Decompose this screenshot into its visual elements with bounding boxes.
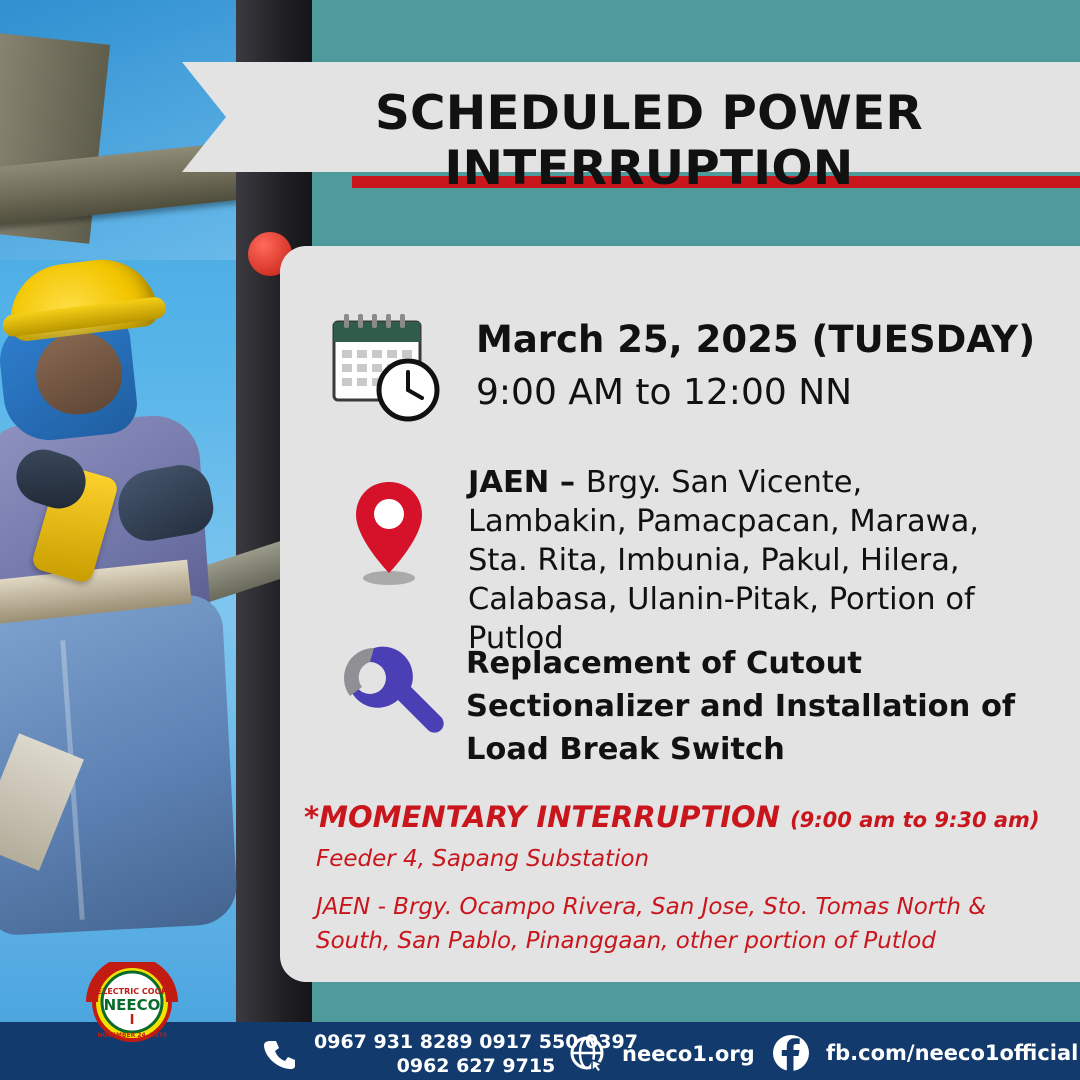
footer-website-label: neeco1.org xyxy=(622,1042,755,1066)
map-pin-icon xyxy=(348,478,430,588)
phone-icon xyxy=(262,1037,296,1071)
footer-facebook-label: fb.com/neeco1official xyxy=(826,1041,1078,1065)
momentary-heading: *MOMENTARY INTERRUPTION (9:00 am to 9:30… xyxy=(304,800,1040,834)
poster: SCHEDULED POWER INTERRUPTION xyxy=(0,0,1080,1080)
wrench-icon xyxy=(336,640,446,740)
clock-icon xyxy=(379,361,437,419)
hard-hat xyxy=(4,253,160,343)
interruption-time: 9:00 AM to 12:00 NN xyxy=(476,372,852,413)
work-description: Replacement of Cutout Sectionalizer and … xyxy=(466,642,1026,771)
momentary-heading-time: (9:00 am to 9:30 am) xyxy=(790,808,1039,832)
svg-text:NEECO: NEECO xyxy=(104,996,161,1014)
footer-facebook[interactable]: fb.com/neeco1official xyxy=(772,1034,1078,1072)
calendar-icon xyxy=(330,312,442,422)
momentary-areas: JAEN - Brgy. Ocampo Rivera, San Jose, St… xyxy=(316,890,1056,958)
municipality-label: JAEN – xyxy=(468,465,586,500)
globe-icon xyxy=(570,1036,606,1072)
facebook-icon xyxy=(772,1034,810,1072)
neeco-logo: ELECTRIC COOP NEECO I NOVEMBER 24, 1970 xyxy=(66,962,198,1042)
momentary-feeder: Feeder 4, Sapang Substation xyxy=(316,846,649,872)
momentary-heading-text: *MOMENTARY INTERRUPTION xyxy=(304,800,790,834)
footer-website[interactable]: neeco1.org xyxy=(570,1036,755,1072)
svg-text:NOVEMBER 24, 1970: NOVEMBER 24, 1970 xyxy=(97,1032,166,1039)
page-title: SCHEDULED POWER INTERRUPTION xyxy=(206,86,1080,196)
svg-text:I: I xyxy=(130,1013,135,1028)
interruption-date: March 25, 2025 (TUESDAY) xyxy=(476,318,1035,361)
affected-areas: JAEN – Brgy. San Vicente, Lambakin, Pama… xyxy=(468,463,1028,658)
svg-text:ELECTRIC COOP: ELECTRIC COOP xyxy=(97,987,168,996)
